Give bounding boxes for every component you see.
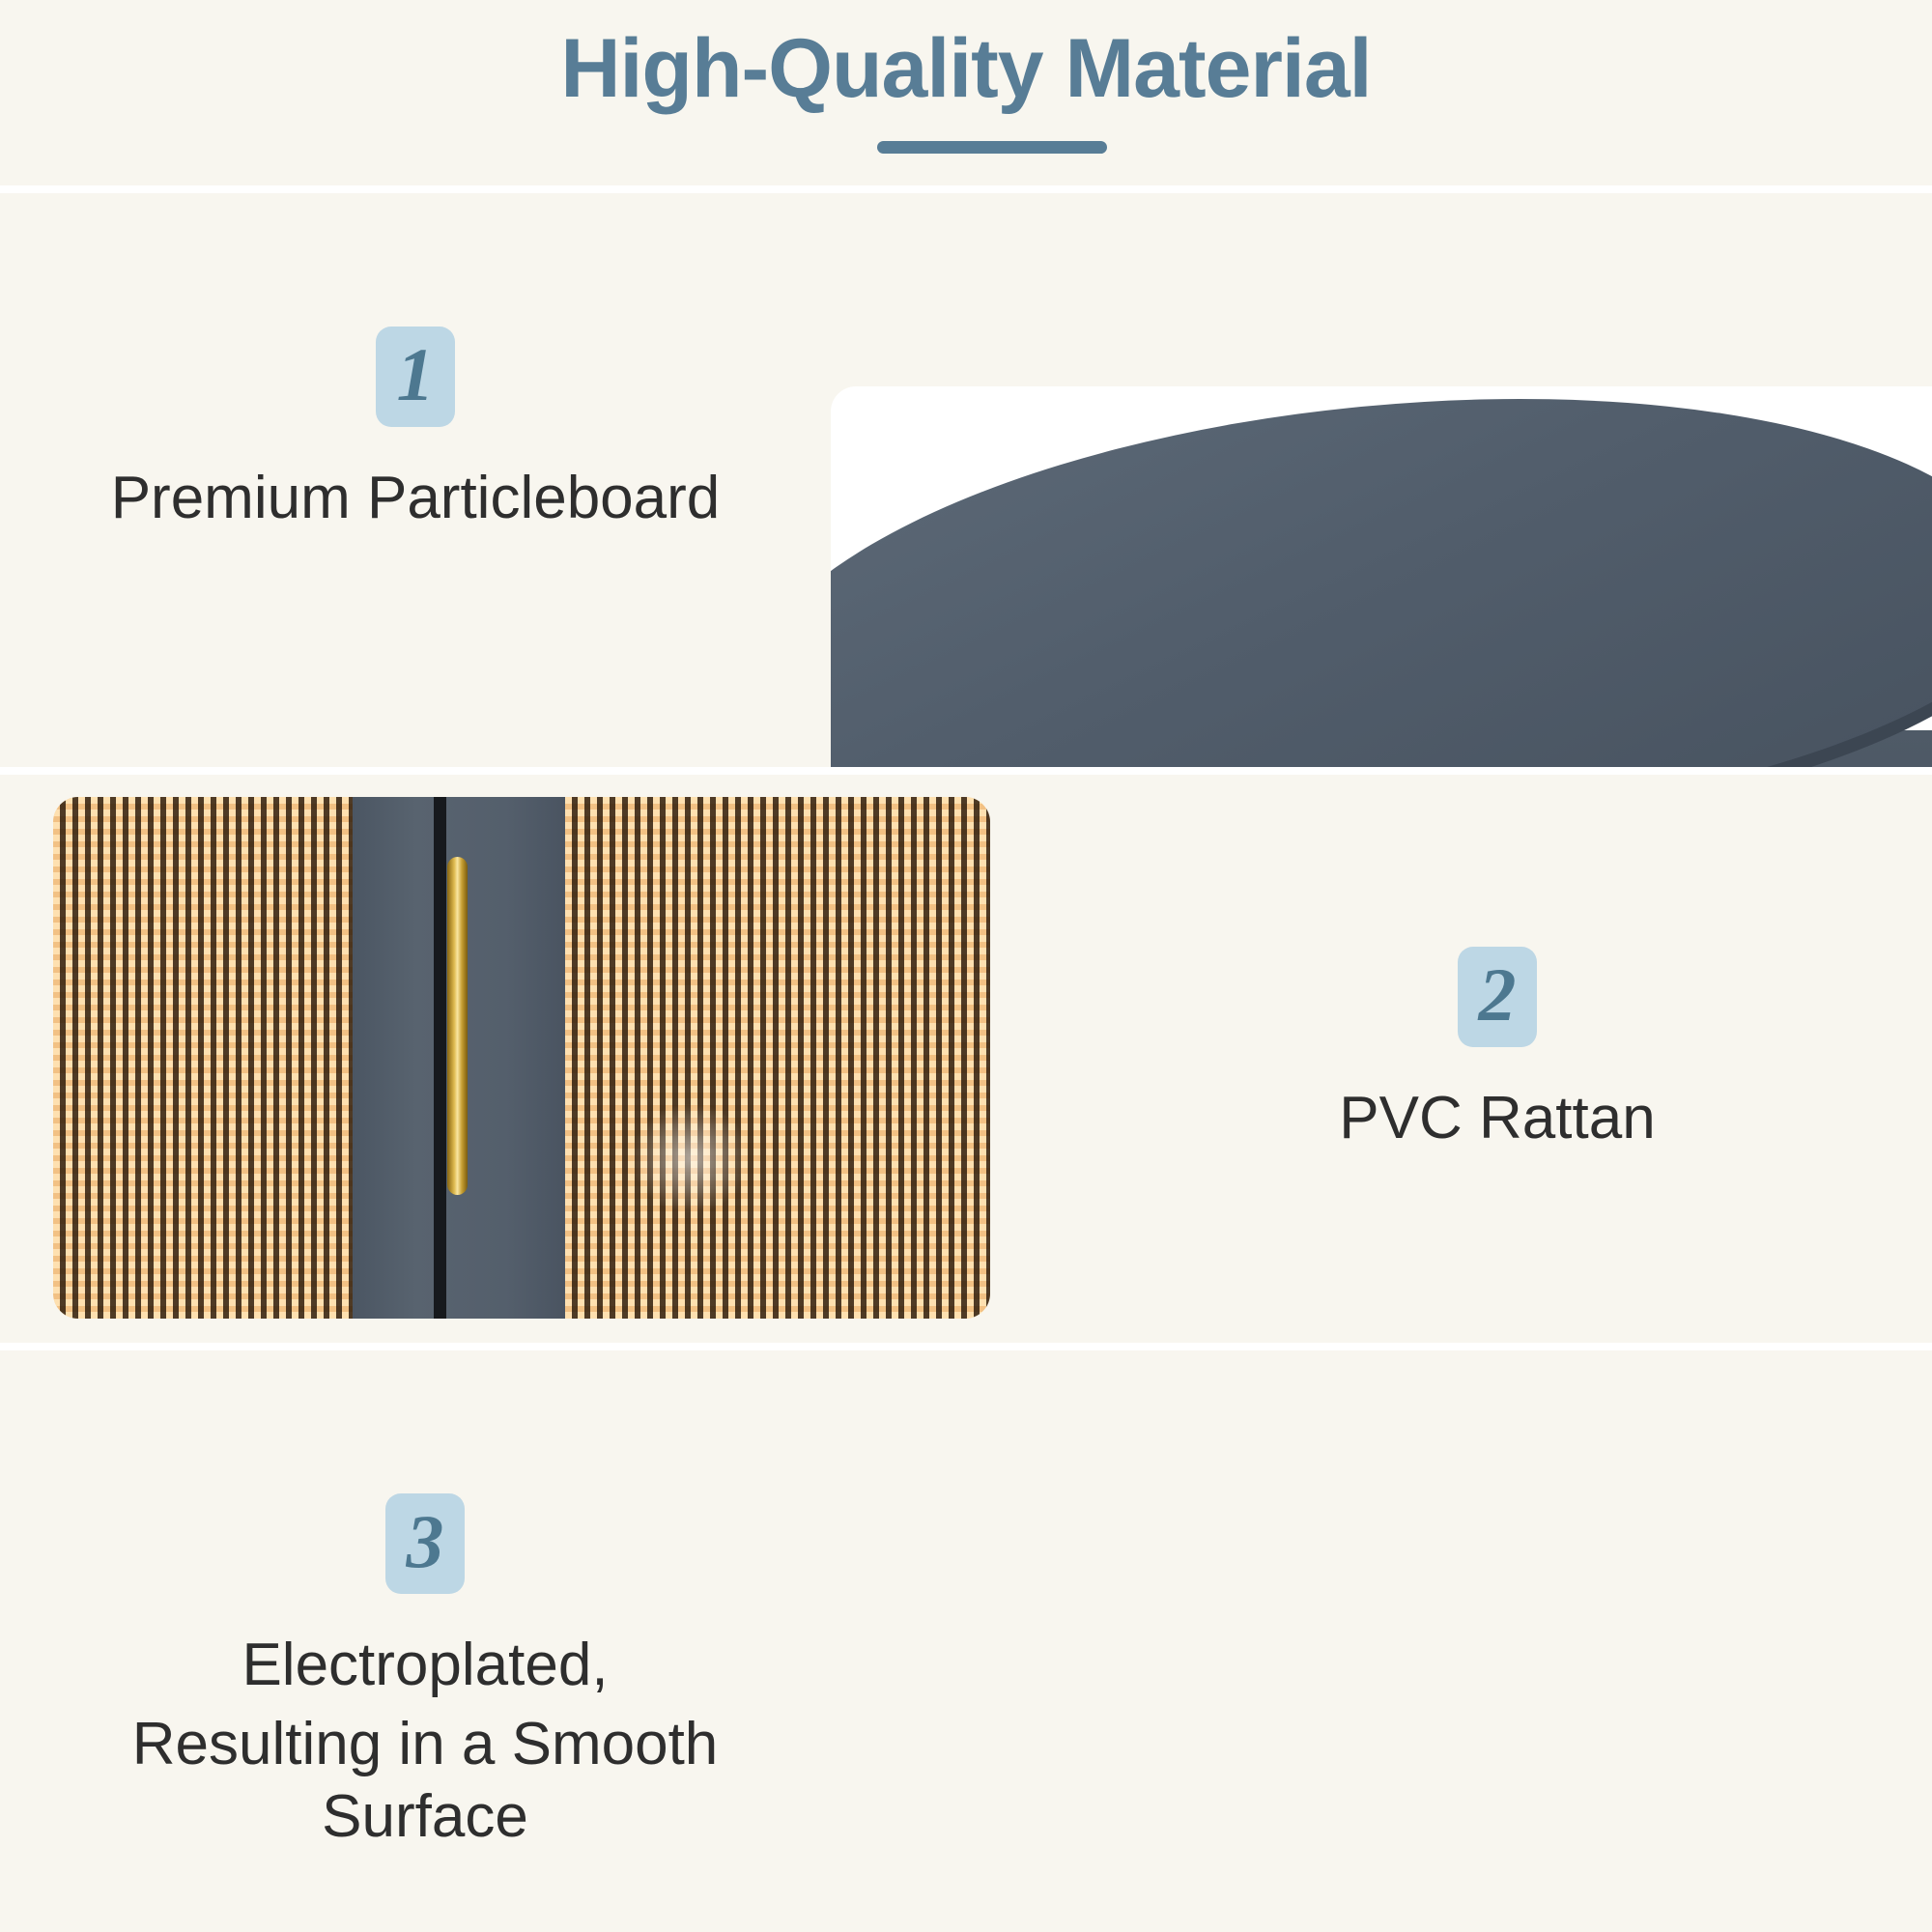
feature-2-photo xyxy=(53,797,990,1319)
photo-2-rattan-right xyxy=(565,797,990,1319)
feature-panel-3: 3 Electroplated, Resulting in a Smooth S… xyxy=(0,1350,1932,1932)
feature-3-text-block: 3 Electroplated, Resulting in a Smooth S… xyxy=(87,1493,763,1854)
feature-1-caption: Premium Particleboard xyxy=(97,462,734,535)
feature-3-caption-line-1: Electroplated, xyxy=(87,1629,763,1702)
feature-3-number: 3 xyxy=(407,1504,444,1579)
page-title: High-Quality Material xyxy=(0,21,1932,117)
feature-2-number: 2 xyxy=(1479,957,1517,1033)
feature-2-text-block: 2 PVC Rattan xyxy=(1188,947,1806,1155)
photo-2-light-sheen xyxy=(633,1104,749,1212)
feature-1-photo xyxy=(831,386,1932,767)
panel-divider-1 xyxy=(0,767,1932,775)
feature-1-number: 1 xyxy=(397,337,435,412)
feature-panel-1: 1 Premium Particleboard xyxy=(0,193,1932,767)
feature-1-text-block: 1 Premium Particleboard xyxy=(97,327,734,535)
panel-divider-2 xyxy=(0,1343,1932,1350)
feature-1-number-badge: 1 xyxy=(376,327,455,427)
feature-2-caption: PVC Rattan xyxy=(1188,1082,1806,1155)
photo-2-gold-handle xyxy=(447,857,468,1195)
header-banner: High-Quality Material xyxy=(0,0,1932,185)
photo-2-rattan-left xyxy=(53,797,353,1319)
feature-3-number-badge: 3 xyxy=(385,1493,465,1594)
photo-2-door-seam xyxy=(434,797,446,1319)
photo-2-center-door xyxy=(353,797,565,1319)
infographic-page: High-Quality Material 1 Premium Particle… xyxy=(0,0,1932,1932)
feature-2-number-badge: 2 xyxy=(1458,947,1537,1047)
title-underline xyxy=(877,141,1107,154)
feature-3-caption-line-2: Resulting in a Smooth Surface xyxy=(87,1708,763,1854)
